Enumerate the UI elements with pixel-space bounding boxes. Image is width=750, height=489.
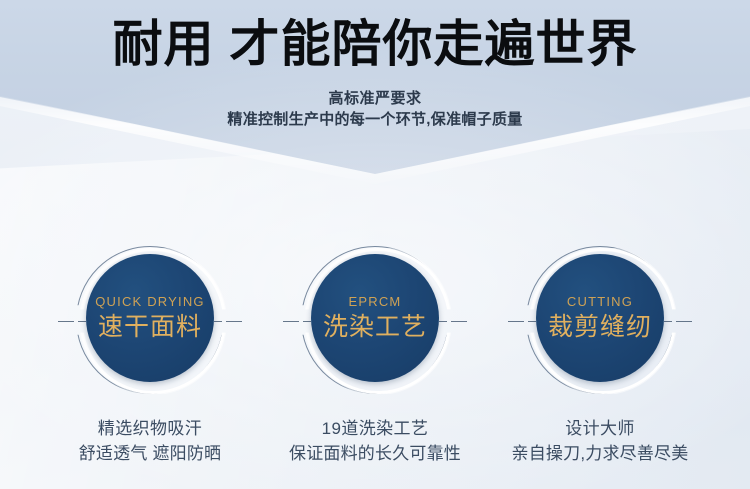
tick-left-inner-icon bbox=[303, 321, 311, 322]
feature-caption-line-2: 保证面料的长久可靠性 bbox=[260, 441, 490, 466]
feature-caption-line-2: 亲自操刀,力求尽善尽美 bbox=[485, 441, 715, 466]
tick-right-icon bbox=[226, 321, 242, 322]
feature-caption: 设计大师 亲自操刀,力求尽善尽美 bbox=[485, 416, 715, 466]
tick-right-icon bbox=[676, 321, 692, 322]
promo-banner: 耐用 才能陪你走遍世界 高标准严要求 精准控制生产中的每一个环节,保准帽子质量 … bbox=[0, 0, 750, 489]
feature-disc: EPRCM 洗染工艺 bbox=[311, 254, 439, 382]
feature-disc: QUICK DRYING 速干面料 bbox=[86, 254, 214, 382]
feature-caption: 19道洗染工艺 保证面料的长久可靠性 bbox=[260, 416, 490, 466]
subtitle-line-2: 精准控制生产中的每一个环节,保准帽子质量 bbox=[0, 109, 750, 131]
feature-english-label: QUICK DRYING bbox=[95, 294, 205, 310]
feature-chinese-label: 速干面料 bbox=[98, 312, 202, 343]
feature-caption-line-1: 设计大师 bbox=[485, 416, 715, 441]
page-title: 耐用 才能陪你走遍世界 bbox=[0, 14, 750, 74]
feature-caption: 精选织物吸汗 舒适透气 遮阳防晒 bbox=[35, 416, 265, 466]
tick-right-inner-icon bbox=[439, 321, 447, 322]
tick-right-inner-icon bbox=[664, 321, 672, 322]
feature-chinese-label: 裁剪缝纫 bbox=[548, 312, 652, 343]
feature-caption-line-1: 19道洗染工艺 bbox=[260, 416, 490, 441]
feature-badge: CUTTING 裁剪缝纫 bbox=[520, 242, 680, 402]
feature-badge: EPRCM 洗染工艺 bbox=[295, 242, 455, 402]
feature-item-washing-dyeing: EPRCM 洗染工艺 19道洗染工艺 保证面料的长久可靠性 bbox=[260, 242, 490, 466]
feature-item-quick-drying: QUICK DRYING 速干面料 精选织物吸汗 舒适透气 遮阳防晒 bbox=[35, 242, 265, 466]
feature-chinese-label: 洗染工艺 bbox=[323, 312, 427, 343]
feature-caption-line-2: 舒适透气 遮阳防晒 bbox=[35, 441, 265, 466]
tick-left-icon bbox=[508, 321, 524, 322]
feature-disc: CUTTING 裁剪缝纫 bbox=[536, 254, 664, 382]
feature-english-label: CUTTING bbox=[567, 294, 633, 310]
subtitle-block: 高标准严要求 精准控制生产中的每一个环节,保准帽子质量 bbox=[0, 88, 750, 131]
feature-english-label: EPRCM bbox=[349, 294, 402, 310]
feature-caption-line-1: 精选织物吸汗 bbox=[35, 416, 265, 441]
subtitle-line-1: 高标准严要求 bbox=[0, 88, 750, 109]
feature-badge: QUICK DRYING 速干面料 bbox=[70, 242, 230, 402]
feature-item-cutting-sewing: CUTTING 裁剪缝纫 设计大师 亲自操刀,力求尽善尽美 bbox=[485, 242, 715, 466]
tick-left-inner-icon bbox=[78, 321, 86, 322]
tick-left-icon bbox=[283, 321, 299, 322]
tick-right-inner-icon bbox=[214, 321, 222, 322]
tick-left-icon bbox=[58, 321, 74, 322]
feature-list: QUICK DRYING 速干面料 精选织物吸汗 舒适透气 遮阳防晒 EPRCM… bbox=[0, 242, 750, 482]
tick-left-inner-icon bbox=[528, 321, 536, 322]
tick-right-icon bbox=[451, 321, 467, 322]
